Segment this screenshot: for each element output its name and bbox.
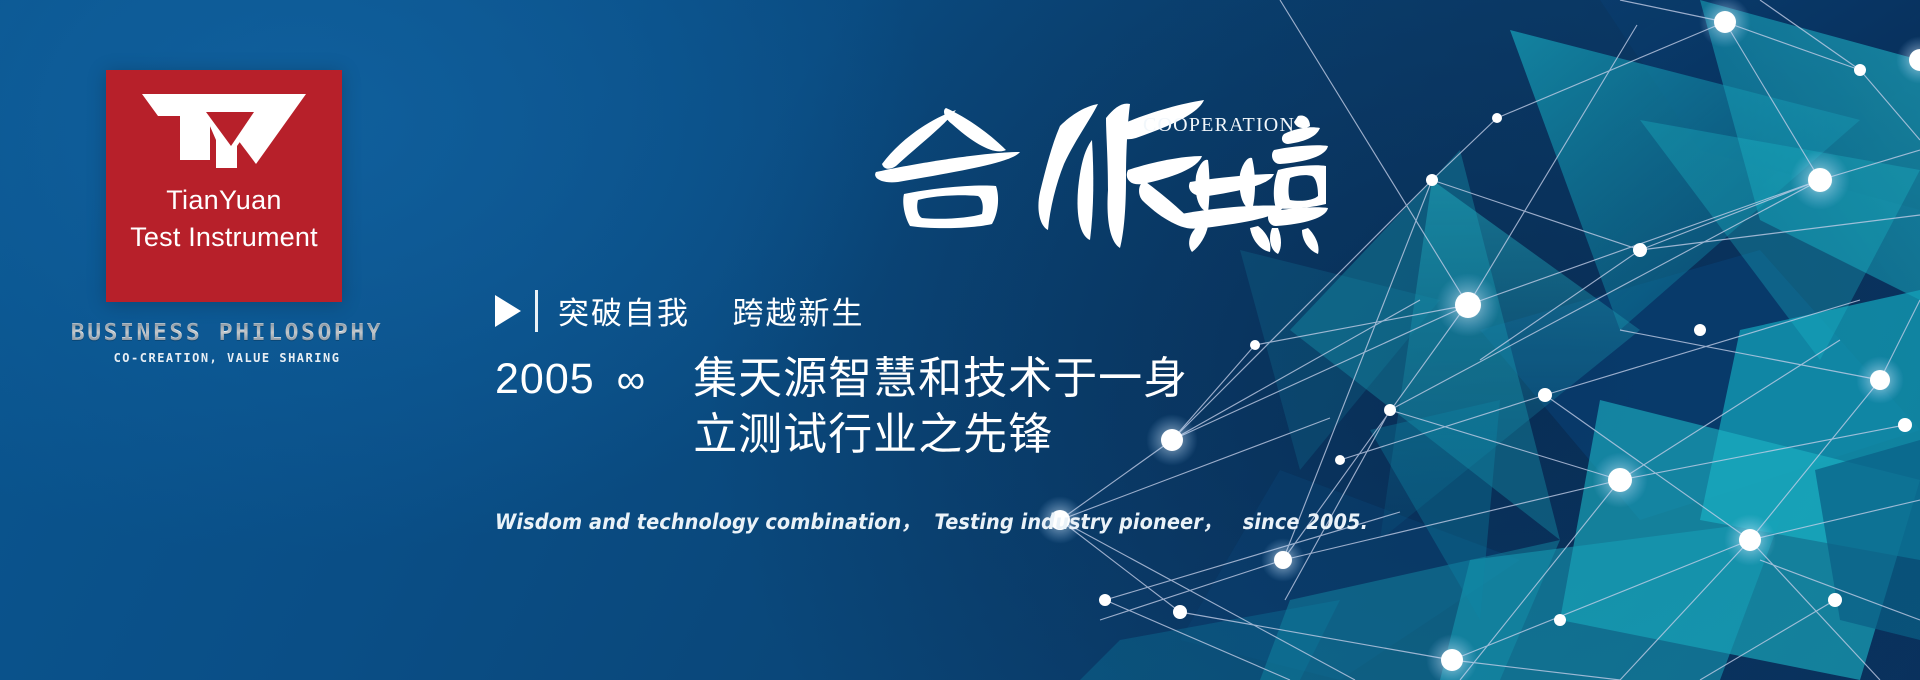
slogan-main-line-1: 集天源智慧和技术于一身 xyxy=(693,354,1188,403)
company-banner: TianYuan Test Instrument BUSINESS PHILOS… xyxy=(0,0,1920,680)
play-triangle-icon xyxy=(495,295,521,327)
slogan-headline: 突破自我 跨越新生 xyxy=(558,288,864,333)
logo-card: TianYuan Test Instrument xyxy=(106,70,342,302)
ty-monogram-icon xyxy=(136,90,312,174)
logo-company-name: TianYuan xyxy=(166,186,282,214)
calligraphy-block: COOPERATION xyxy=(860,86,1330,256)
slogan-block: 突破自我 跨越新生 2005 ∞ 集天源智慧和技术于一身 立测试行业之先锋 Wi… xyxy=(495,288,1444,536)
slogan-headline-row: 突破自我 跨越新生 xyxy=(495,288,1444,333)
divider-bar xyxy=(535,290,538,332)
infinity-symbol: ∞ xyxy=(617,360,646,400)
business-philosophy: BUSINESS PHILOSOPHY CO-CREATION, VALUE S… xyxy=(62,320,392,365)
english-tagline: Wisdom and technology combination， Testi… xyxy=(495,506,1368,536)
philosophy-title: BUSINESS PHILOSOPHY xyxy=(62,320,392,346)
philosophy-subtitle: CO-CREATION, VALUE SHARING xyxy=(62,351,392,365)
founding-year: 2005 xyxy=(495,355,595,404)
brand-logo-block: TianYuan Test Instrument BUSINESS PHILOS… xyxy=(62,70,392,365)
slogan-main-line-2: 立测试行业之先锋 xyxy=(693,407,1188,463)
logo-company-sub: Test Instrument xyxy=(130,223,318,251)
slogan-main-row: 2005 ∞ 集天源智慧和技术于一身 立测试行业之先锋 xyxy=(495,351,1444,464)
slogan-main: 集天源智慧和技术于一身 立测试行业之先锋 xyxy=(693,351,1188,464)
calligraphy-strokes xyxy=(860,86,1330,256)
cooperation-label: COOPERATION xyxy=(1143,114,1295,137)
